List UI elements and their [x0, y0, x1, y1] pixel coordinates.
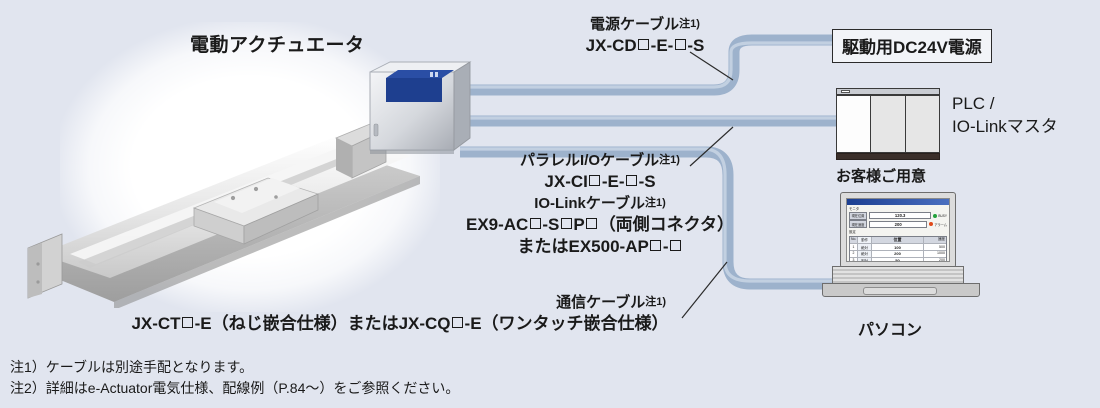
plc-label-line1: PLC / [952, 92, 1058, 115]
cell-pos: 50 [872, 258, 924, 262]
cell-spd: 1000 [924, 251, 946, 257]
placeholder-square-icon [182, 317, 193, 328]
iolink-b2: - [663, 237, 669, 256]
cell-pos: 100 [872, 244, 924, 250]
power-cable-partno: JX-CD-E--S [500, 35, 790, 57]
laptop-touchpad [863, 287, 937, 295]
power-cable-note: 注1) [679, 18, 700, 30]
screen-row2-status-text: アラーム [934, 222, 947, 227]
cell-no: 3 [850, 258, 858, 262]
col-header-mode: 動作 [858, 237, 872, 244]
screen-row1-status-text: BUSY [938, 214, 947, 218]
plc-top-rail [836, 88, 940, 95]
dc24v-power-supply-box: 駆動用DC24V電源 [832, 29, 992, 63]
laptop-screen: モニタ 現在位置 120.3 BUSY 現在速度 200 アラーム 設定 No.… [846, 198, 950, 262]
pc-label: パソコン [858, 316, 922, 340]
screen-window-title: モニタ [847, 205, 949, 211]
plc-sublabel: お客様ご用意 [836, 165, 926, 186]
plc-base-rail [836, 153, 940, 160]
col-header-pos: 位置 [872, 237, 924, 244]
placeholder-square-icon [626, 175, 637, 186]
status-led-green-icon [933, 214, 937, 218]
parallel-io-note: 注1) [659, 154, 680, 166]
iolink-a1: EX9-AC [466, 215, 528, 234]
status-led-red-icon [929, 222, 933, 226]
placeholder-square-icon [530, 218, 541, 229]
label-power-cable: 電源ケーブル注1) JX-CD-E--S [500, 14, 790, 57]
parallel-io-name: パラレルI/Oケーブル [520, 152, 659, 169]
screen-data-table: No. 動作 位置 速度 1 絶対 100 500 2 絶対 200 [849, 236, 947, 263]
label-io-cables: パラレルI/Oケーブル注1) JX-CI-E--S IO-Linkケーブル注1)… [420, 150, 780, 258]
cell-spd: 200 [924, 258, 946, 262]
placeholder-square-icon [586, 218, 597, 229]
col-header-no: No. [850, 237, 858, 244]
comm-p3: -E（ワンタッチ嵌合仕様） [465, 314, 669, 333]
placeholder-square-icon [670, 240, 681, 251]
cell-no: 2 [850, 251, 858, 257]
page-title: 電動アクチュエータ [190, 30, 365, 57]
laptop-palmrest [822, 283, 980, 297]
cell-no: 1 [850, 244, 858, 250]
pio-part-suffix: -S [639, 172, 656, 191]
power-part-suffix: -S [687, 36, 704, 55]
comm-p1: JX-CT [131, 314, 180, 333]
placeholder-square-icon [650, 240, 661, 251]
cell-mode: 相対 [858, 258, 872, 262]
cell-spd: 500 [924, 244, 946, 250]
comm-p2: -E（ねじ嵌合仕様）またはJX-CQ [195, 314, 451, 333]
iolink-a2: -S [542, 215, 559, 234]
screen-monitor-row-2: 現在速度 200 アラーム [847, 220, 949, 228]
iolink-b1: またはEX500-AP [518, 237, 649, 256]
footnotes: 注1）ケーブルは別途手配となります。 注2）詳細はe-Actuator電気仕様、… [10, 357, 459, 399]
screen-monitor-row-1: 現在位置 120.3 BUSY [847, 212, 949, 220]
table-row: 2 絶対 200 1000 [850, 251, 946, 258]
screen-row1-status: BUSY [933, 214, 947, 218]
placeholder-square-icon [561, 218, 572, 229]
iolink-note: 注1) [645, 197, 666, 209]
power-part-mid: -E- [651, 36, 674, 55]
pio-part-prefix: JX-CI [544, 172, 587, 191]
pio-part-mid: -E- [602, 172, 625, 191]
plc-module-2 [871, 96, 905, 152]
iolink-a4: （両側コネクタ） [599, 215, 734, 234]
cell-mode: 絶対 [858, 251, 872, 257]
pc-laptop-image: モニタ 現在位置 120.3 BUSY 現在速度 200 アラーム 設定 No.… [822, 192, 982, 312]
electric-actuator-image [18, 58, 488, 308]
footnote-1: 注1）ケーブルは別途手配となります。 [10, 357, 459, 378]
placeholder-square-icon [675, 39, 686, 50]
footnote-2: 注2）詳細はe-Actuator電気仕様、配線例（P.84〜）をご参照ください。 [10, 378, 459, 399]
laptop-lid: モニタ 現在位置 120.3 BUSY 現在速度 200 アラーム 設定 No.… [840, 192, 956, 268]
screen-row2-button: 現在速度 [849, 220, 867, 228]
plc-modules [836, 95, 940, 153]
diagram-canvas: 電動アクチュエータ 電源ケーブル注1) JX-CD-E--S パラレルI/Oケー… [0, 0, 1100, 408]
comm-cable-partno: JX-CT-E（ねじ嵌合仕様）またはJX-CQ-E（ワンタッチ嵌合仕様） [100, 313, 700, 335]
placeholder-square-icon [589, 175, 600, 186]
plc-module-1 [837, 96, 871, 152]
comm-cable-note: 注1) [645, 296, 666, 308]
plc-label-line2: IO-Linkマスタ [952, 115, 1058, 138]
placeholder-square-icon [638, 39, 649, 50]
laptop-base [822, 266, 980, 296]
iolink-partno-a: EX9-AC-SP（両側コネクタ） [420, 214, 780, 236]
parallel-io-partno: JX-CI-E--S [420, 171, 780, 193]
cell-pos: 200 [872, 251, 924, 257]
col-header-spd: 速度 [924, 237, 946, 244]
placeholder-square-icon [452, 317, 463, 328]
power-part-prefix: JX-CD [586, 36, 637, 55]
cell-mode: 絶対 [858, 244, 872, 250]
plc-unit-image [836, 88, 940, 160]
plc-label: PLC / IO-Linkマスタ [952, 92, 1058, 138]
screen-row2-status: アラーム [929, 222, 947, 227]
plc-led-icon [841, 90, 850, 93]
screen-row1-value: 120.3 [869, 212, 931, 219]
iolink-a3: P [573, 215, 584, 234]
plc-module-3 [906, 96, 939, 152]
table-row: 1 絶対 100 500 [850, 244, 946, 251]
screen-row1-button: 現在位置 [849, 212, 867, 220]
table-row: 3 相対 50 200 [850, 258, 946, 262]
laptop-keyboard [832, 266, 964, 284]
iolink-partno-b: またはEX500-AP- [420, 236, 780, 258]
screen-row2-value: 200 [869, 221, 927, 228]
comm-cable-name: 通信ケーブル [556, 294, 645, 311]
label-comm-cable: 通信ケーブル注1) JX-CT-E（ねじ嵌合仕様）またはJX-CQ-E（ワンタッ… [100, 292, 700, 335]
power-cable-name: 電源ケーブル [590, 16, 679, 33]
table-header-row: No. 動作 位置 速度 [850, 237, 946, 245]
iolink-name: IO-Linkケーブル [534, 195, 645, 212]
screen-table-title: 設定 [847, 228, 949, 234]
